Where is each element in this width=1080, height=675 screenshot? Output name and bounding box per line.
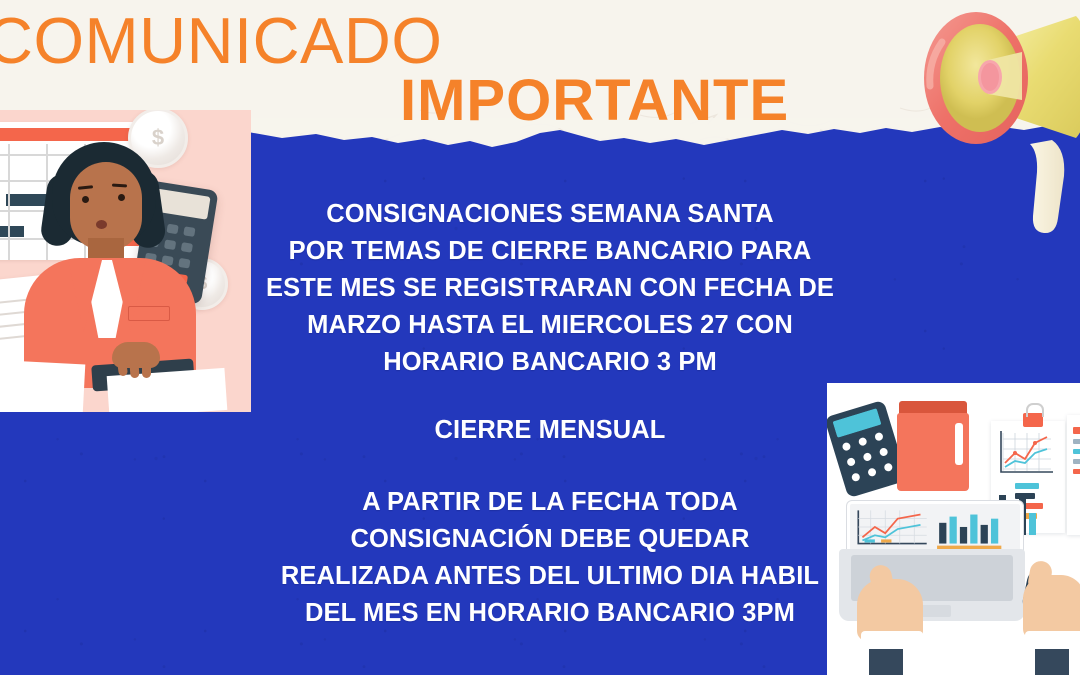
grid-line xyxy=(8,144,10,260)
laptop-screen-charts xyxy=(850,504,1020,552)
body-line: POR TEMAS DE CIERRE BANCARIO PARA xyxy=(250,233,850,270)
spreadsheet-bar xyxy=(0,128,130,141)
face xyxy=(70,162,142,250)
body-line: CONSIGNACIONES SEMANA SANTA xyxy=(250,196,850,233)
line-chart-graphic xyxy=(995,427,1057,477)
announcement-body: CONSIGNACIONES SEMANA SANTA POR TEMAS DE… xyxy=(250,196,850,632)
suit-cuff xyxy=(869,649,903,675)
pocket xyxy=(128,306,170,321)
headline-primary: COMUNICADO xyxy=(0,8,442,73)
body-line: REALIZADA ANTES DEL ULTIMO DIA HABIL xyxy=(250,558,850,595)
body-line: A PARTIR DE LA FECHA TODA xyxy=(250,484,850,521)
megaphone-icon xyxy=(880,0,1080,240)
body-line: MARZO HASTA EL MIERCOLES 27 CON xyxy=(250,307,850,344)
calculator-screen xyxy=(833,408,882,438)
spacer xyxy=(250,449,850,484)
body-line: DEL MES EN HORARIO BANCARIO 3PM xyxy=(250,595,850,632)
body-line: CONSIGNACIÓN DEBE QUEDAR xyxy=(250,521,850,558)
mouth xyxy=(96,220,107,229)
spreadsheet-bar xyxy=(0,226,24,237)
section-heading: CIERRE MENSUAL xyxy=(250,412,850,449)
folder-tab xyxy=(955,423,963,465)
desk-paper xyxy=(0,360,85,412)
desk-workspace-illustration xyxy=(827,383,1080,675)
body-line: ESTE MES SE REGISTRARAN CON FECHA DE xyxy=(250,270,850,307)
announcement-poster: COMUNICADO IMPORTANTE CONSIGNACIONES SEM… xyxy=(0,0,1080,675)
binder-clip-icon xyxy=(1023,413,1043,427)
desk-calculator xyxy=(827,400,908,498)
body-line: HORARIO BANCARIO 3 PM xyxy=(250,344,850,381)
laptop-screen xyxy=(847,501,1023,555)
spacer xyxy=(250,381,850,412)
headline-secondary: IMPORTANTE xyxy=(400,72,789,130)
suit-cuff xyxy=(1035,649,1069,675)
accountant-woman-illustration xyxy=(0,110,251,412)
